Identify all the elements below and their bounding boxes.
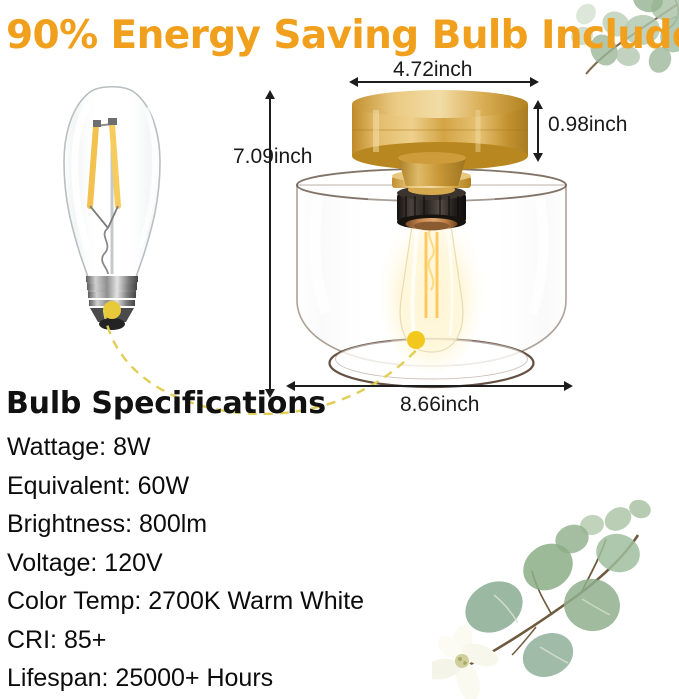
spec-item-wattage: Wattage: 8W <box>7 428 457 467</box>
dimension-label-fixture-height: 7.09inch <box>233 145 312 169</box>
spec-heading: Bulb Specifications <box>6 386 326 421</box>
spec-item-lifespan: Lifespan: 25000+ Hours <box>7 659 457 698</box>
dimension-line-fixture-height <box>269 98 271 390</box>
title-banner: 90% Energy Saving Bulb Included <box>6 13 666 65</box>
dimension-line-shade-diameter <box>293 385 566 387</box>
eucalyptus-sprig-bottom-icon <box>432 495 679 699</box>
arrow-right-shade-diameter <box>564 381 573 391</box>
dimension-label-shade-diameter: 8.66inch <box>400 393 479 417</box>
arrow-down-canopy-height <box>533 153 543 162</box>
arrow-right-canopy-width <box>530 77 539 87</box>
spec-item-voltage: Voltage: 120V <box>7 544 457 583</box>
arrow-left-canopy-width <box>349 77 358 87</box>
spec-item-color-temp: Color Temp: 2700K Warm White <box>7 582 457 621</box>
spec-list: Wattage: 8W Equivalent: 60W Brightness: … <box>7 428 457 698</box>
spec-item-equivalent: Equivalent: 60W <box>7 467 457 506</box>
spec-item-brightness: Brightness: 800lm <box>7 505 457 544</box>
page-title: 90% Energy Saving Bulb Included <box>6 13 666 59</box>
spec-item-cri: CRI: 85+ <box>7 621 457 660</box>
dimension-line-canopy-height <box>537 108 539 154</box>
arrow-up-canopy-height <box>533 100 543 109</box>
product-infographic: 90% Energy Saving Bulb Included <box>0 0 679 699</box>
dimension-label-canopy-height: 0.98inch <box>548 113 627 137</box>
arrow-up-fixture-height <box>265 90 275 99</box>
